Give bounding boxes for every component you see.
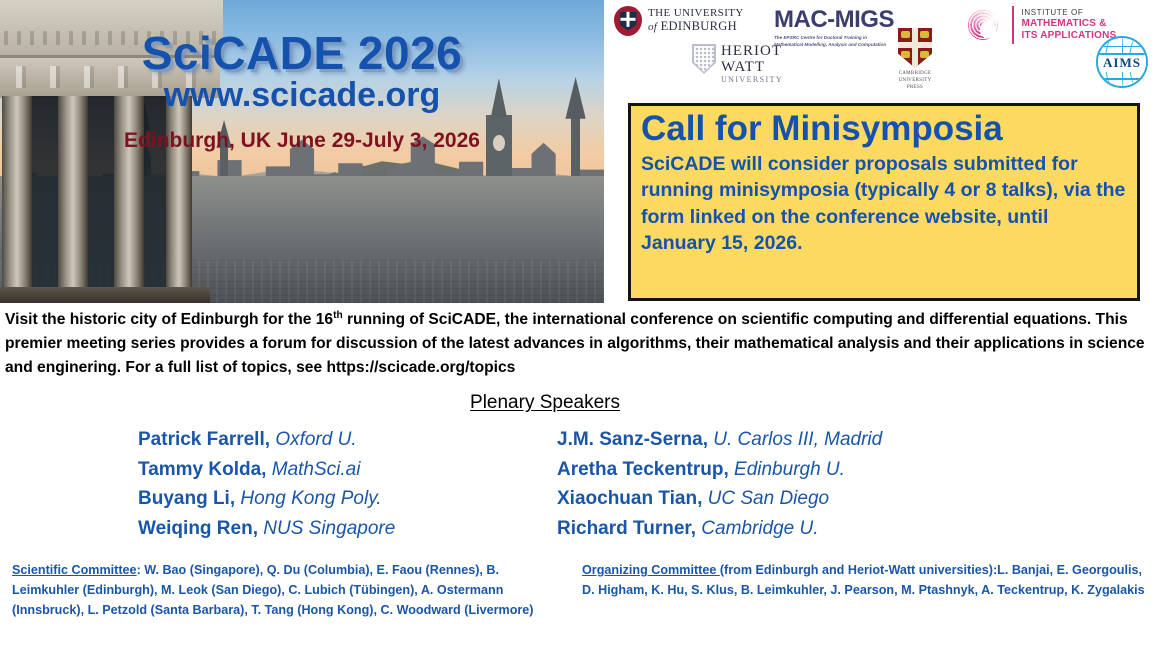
speaker-name: Xiaochuan Tian, [557, 488, 702, 509]
speaker-row: Richard Turner, Cambridge U. [557, 514, 997, 544]
speaker-affiliation: Oxford U. [275, 429, 356, 450]
speaker-name: Buyang Li, [138, 488, 235, 509]
ima-line1: INSTITUTE OF [1022, 8, 1117, 18]
aims-wordmark: AIMS [1098, 55, 1146, 72]
organizing-committee-label: Organizing Committee [582, 563, 720, 577]
speaker-row: Tammy Kolda, MathSci.ai [138, 455, 538, 485]
cambridge-university-press-logo: CAMBRIDGE UNIVERSITY PRESS [892, 28, 938, 91]
ima-swirl-icon [962, 4, 1004, 46]
cambridge-line2: UNIVERSITY PRESS [892, 77, 938, 91]
scientific-committee-label: Scientific Committee [12, 563, 137, 577]
speaker-affiliation: Edinburgh U. [734, 459, 845, 480]
heriot-watt-line2: WATT [721, 60, 783, 76]
intro-part1: Visit the historic city of Edinburgh for… [5, 311, 333, 328]
speaker-name: Tammy Kolda, [138, 459, 266, 480]
monument-column [2, 96, 32, 303]
speaker-affiliation: UC San Diego [708, 488, 829, 509]
heriot-watt-line3: UNIVERSITY [721, 76, 783, 84]
conference-title: SciCADE 2026 [0, 26, 604, 80]
heriot-watt-shield-icon [692, 44, 716, 74]
university-of-edinburgh-logo: THE UNIVERSITY of EDINBURGH [614, 6, 744, 36]
speaker-affiliation: NUS Singapore [263, 518, 395, 539]
organizing-committee: Organizing Committee (from Edinburgh and… [582, 561, 1150, 601]
conference-description: Visit the historic city of Edinburgh for… [5, 308, 1160, 379]
call-for-minisymposia-title: Call for Minisymposia [641, 110, 1127, 149]
speaker-name: Aretha Teckentrup, [557, 459, 729, 480]
edinburgh-logo-of: of [648, 21, 657, 33]
mac-migs-name: MAC-MIGS [774, 6, 894, 34]
cambridge-shield-icon [898, 28, 932, 68]
speaker-row: Patrick Farrell, Oxford U. [138, 425, 538, 455]
scientific-committee: Scientific Committee: W. Bao (Singapore)… [12, 561, 552, 621]
speaker-row: Xiaochuan Tian, UC San Diego [557, 484, 997, 514]
ordinal-suffix: th [333, 310, 343, 321]
sponsor-logo-strip: THE UNIVERSITY of EDINBURGH HERIOT WATT … [604, 0, 1164, 100]
monument-column [58, 96, 88, 303]
monument-column [166, 96, 192, 303]
edinburgh-crest-icon [614, 6, 642, 36]
speaker-name: Patrick Farrell, [138, 429, 270, 450]
aims-logo: AIMS [1096, 36, 1148, 88]
edinburgh-logo-line2: EDINBURGH [661, 19, 737, 33]
conference-location-dates: Edinburgh, UK June 29-July 3, 2026 [0, 129, 604, 153]
conference-website-url[interactable]: www.scicade.org [0, 76, 604, 115]
cambridge-line1: CAMBRIDGE [892, 70, 938, 77]
speaker-name: J.M. Sanz-Serna, [557, 429, 708, 450]
speaker-row: J.M. Sanz-Serna, U. Carlos III, Madrid [557, 425, 997, 455]
speaker-affiliation: Cambridge U. [701, 518, 818, 539]
speaker-name: Richard Turner, [557, 518, 696, 539]
monument-gap [32, 96, 58, 303]
conference-poster: SciCADE 2026 www.scicade.org Edinburgh, … [0, 0, 1164, 654]
speaker-affiliation: MathSci.ai [272, 459, 361, 480]
edinburgh-skyline-photo: SciCADE 2026 www.scicade.org Edinburgh, … [0, 0, 604, 303]
speaker-affiliation: U. Carlos III, Madrid [713, 429, 882, 450]
call-for-minisymposia-box: Call for Minisymposia SciCADE will consi… [628, 103, 1140, 301]
plenary-speakers-right-column: J.M. Sanz-Serna, U. Carlos III, Madrid A… [557, 425, 997, 544]
monument-base [0, 287, 210, 303]
monument-column [114, 96, 144, 303]
saltire-cross-icon [621, 18, 636, 20]
speaker-row: Weiqing Ren, NUS Singapore [138, 514, 538, 544]
heriot-watt-university-logo: HERIOT WATT UNIVERSITY [692, 44, 783, 84]
ima-line2: MATHEMATICS & [1022, 18, 1117, 30]
institute-of-mathematics-logo: INSTITUTE OF MATHEMATICS & ITS APPLICATI… [962, 4, 1116, 46]
globe-icon: AIMS [1096, 36, 1148, 88]
mac-migs-subtitle: The EPSRC Centre for Doctoral Training i… [774, 35, 894, 49]
ima-divider [1012, 6, 1014, 44]
plenary-speakers-left-column: Patrick Farrell, Oxford U. Tammy Kolda, … [138, 425, 538, 544]
speaker-name: Weiqing Ren, [138, 518, 258, 539]
mac-migs-logo: MAC-MIGS The EPSRC Centre for Doctoral T… [774, 6, 894, 49]
call-for-minisymposia-body: SciCADE will consider proposals submitte… [641, 151, 1127, 257]
speaker-affiliation: Hong Kong Poly. [240, 488, 381, 509]
plenary-speakers-heading: Plenary Speakers [0, 392, 1090, 414]
speaker-row: Aretha Teckentrup, Edinburgh U. [557, 455, 997, 485]
monument-gap [88, 96, 114, 303]
speaker-row: Buyang Li, Hong Kong Poly. [138, 484, 538, 514]
